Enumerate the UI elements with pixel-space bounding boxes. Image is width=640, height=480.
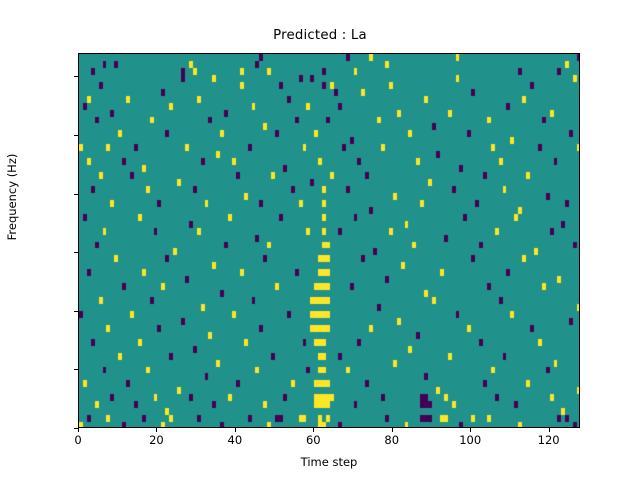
x-tick-label: 120 bbox=[538, 433, 560, 447]
y-tick-mark bbox=[74, 252, 78, 253]
y-tick-mark bbox=[74, 76, 78, 77]
y-tick-mark bbox=[74, 369, 78, 370]
x-tick-mark bbox=[156, 428, 157, 432]
y-axis-label: Frequency (Hz) bbox=[5, 7, 19, 387]
axis-ticks-layer: 0200004000060000800001000001200000204060… bbox=[0, 0, 640, 480]
x-tick-label: 80 bbox=[384, 433, 399, 447]
y-tick-mark bbox=[74, 194, 78, 195]
x-axis-label: Time step bbox=[78, 455, 580, 469]
x-tick-label: 0 bbox=[74, 433, 81, 447]
x-tick-mark bbox=[470, 428, 471, 432]
y-tick-mark bbox=[74, 311, 78, 312]
x-tick-label: 60 bbox=[306, 433, 321, 447]
y-tick-mark bbox=[74, 135, 78, 136]
matplotlib-figure: Predicted : La 0200004000060000800001000… bbox=[0, 0, 640, 480]
x-tick-mark bbox=[549, 428, 550, 432]
x-tick-label: 40 bbox=[228, 433, 243, 447]
x-tick-mark bbox=[313, 428, 314, 432]
x-tick-label: 20 bbox=[149, 433, 164, 447]
x-tick-label: 100 bbox=[459, 433, 481, 447]
x-tick-mark bbox=[78, 428, 79, 432]
x-tick-mark bbox=[235, 428, 236, 432]
x-tick-mark bbox=[392, 428, 393, 432]
